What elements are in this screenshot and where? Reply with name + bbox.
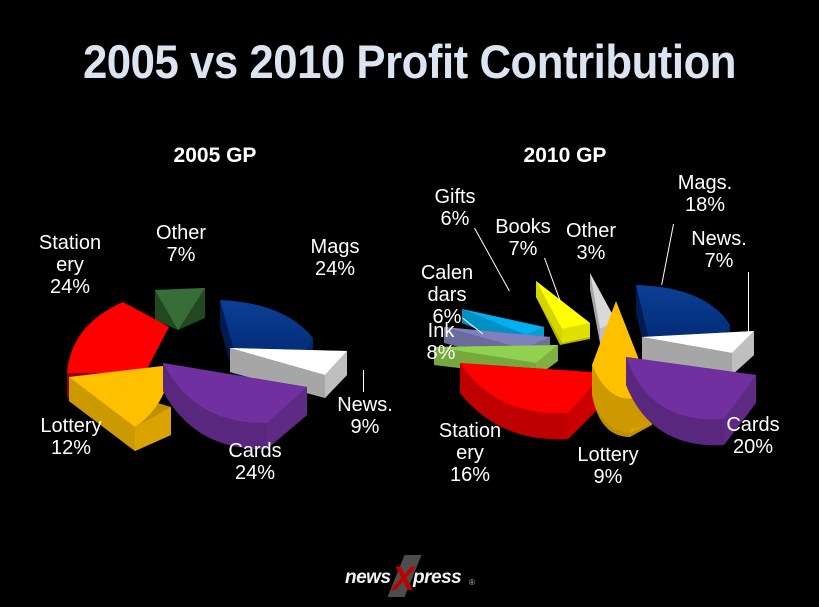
label-2010-other: Other 3% [556,220,626,264]
slide-canvas: 2005 vs 2010 Profit Contribution 2005 GP [0,0,819,607]
slice-2010-books [536,281,590,345]
label-2005-other: Other 7% [138,222,224,266]
label-2010-calendars: Calen dars 6% [410,262,484,328]
chart-title-2005: 2005 GP [120,144,310,168]
logo-trademark: ® [469,578,475,587]
leader-line-2010-news [748,272,749,334]
label-2005-news: News. 9% [320,394,410,438]
logo-text-press: press [413,567,461,589]
logo-x-icon: X [392,560,415,599]
label-2005-mags: Mags 24% [292,236,378,280]
leader-line-2005-news [363,370,364,392]
label-2010-mags: Mags. 18% [660,172,750,216]
chart-title-2010: 2010 GP [470,144,660,168]
label-2005-stationery: Station ery 24% [20,232,120,298]
logo-text-news: news [345,567,391,589]
label-2010-gifts: Gifts 6% [418,186,492,230]
newsxpress-logo: news X press ® [341,556,481,596]
label-2010-lottery: Lottery 9% [558,444,658,488]
label-2010-cards: Cards 20% [706,414,800,458]
label-2010-books: Books 7% [486,216,560,260]
page-title: 2005 vs 2010 Profit Contribution [29,34,791,89]
label-2010-stationery: Station ery 16% [420,420,520,486]
label-2005-cards: Cards 24% [200,440,310,484]
label-2010-news: News. 7% [676,228,762,272]
label-2005-lottery: Lottery 12% [16,415,126,459]
label-2010-ink: Ink 8% [414,320,468,364]
